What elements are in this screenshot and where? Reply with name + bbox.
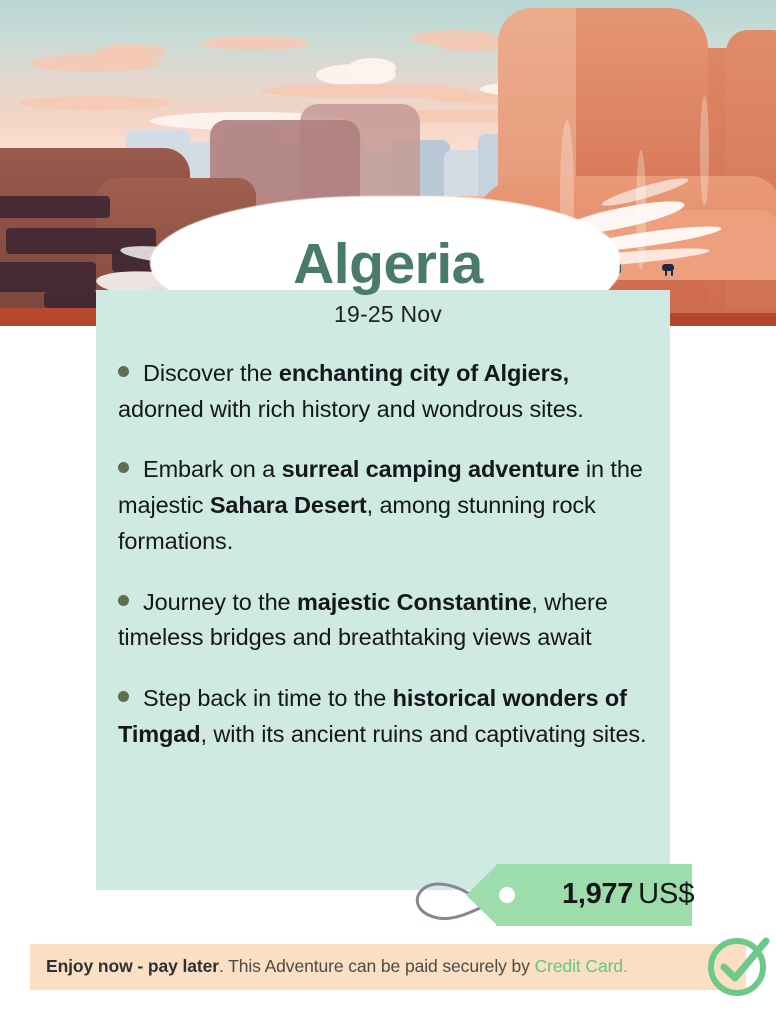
cloud bbox=[440, 40, 500, 52]
bullet-dot-icon bbox=[118, 595, 129, 606]
price-currency: US$ bbox=[638, 878, 694, 910]
highlight-text: Journey to the majestic Constantine, whe… bbox=[118, 589, 608, 651]
cloud bbox=[96, 44, 166, 60]
banner-body: . This Adventure can be paid securely by bbox=[219, 956, 535, 976]
list-item: Embark on a surreal camping adventure in… bbox=[96, 452, 670, 559]
bullet-dot-icon bbox=[118, 462, 129, 473]
payment-banner: Enjoy now - pay later. This Adventure ca… bbox=[30, 944, 746, 990]
title-block: Algeria 19-25 Nov bbox=[0, 236, 776, 328]
rock-streak bbox=[700, 96, 709, 206]
page-title: Algeria bbox=[0, 236, 776, 293]
banner-credit-card[interactable]: Credit Card. bbox=[535, 956, 628, 976]
banner-lead: Enjoy now - pay later bbox=[46, 956, 219, 976]
list-item: Step back in time to the historical wond… bbox=[96, 681, 670, 752]
list-item: Discover the enchanting city of Algiers,… bbox=[96, 356, 670, 427]
list-item: Journey to the majestic Constantine, whe… bbox=[96, 585, 670, 656]
price-amount: 1,977 bbox=[562, 878, 633, 910]
cloud bbox=[200, 36, 310, 50]
cloud bbox=[20, 96, 170, 110]
price-text: 1,977US$ bbox=[562, 878, 695, 911]
payment-banner-text: Enjoy now - pay later. This Adventure ca… bbox=[46, 956, 628, 977]
tag-hole bbox=[499, 887, 515, 903]
trip-dates: 19-25 Nov bbox=[0, 301, 776, 328]
highlight-text: Step back in time to the historical wond… bbox=[118, 685, 647, 747]
cliff-shadow bbox=[0, 196, 110, 218]
travel-poster: Algeria 19-25 Nov Discover the enchantin… bbox=[0, 0, 776, 1024]
price-tag: 1,977US$ bbox=[466, 864, 692, 926]
highlight-text: Discover the enchanting city of Algiers,… bbox=[118, 360, 584, 422]
cloud bbox=[348, 58, 396, 78]
highlight-text: Embark on a surreal camping adventure in… bbox=[118, 456, 643, 553]
bullet-dot-icon bbox=[118, 366, 129, 377]
bullet-dot-icon bbox=[118, 691, 129, 702]
highlights-list: Discover the enchanting city of Algiers,… bbox=[96, 356, 670, 777]
check-circle-icon bbox=[706, 932, 772, 998]
tag-point bbox=[466, 864, 498, 926]
